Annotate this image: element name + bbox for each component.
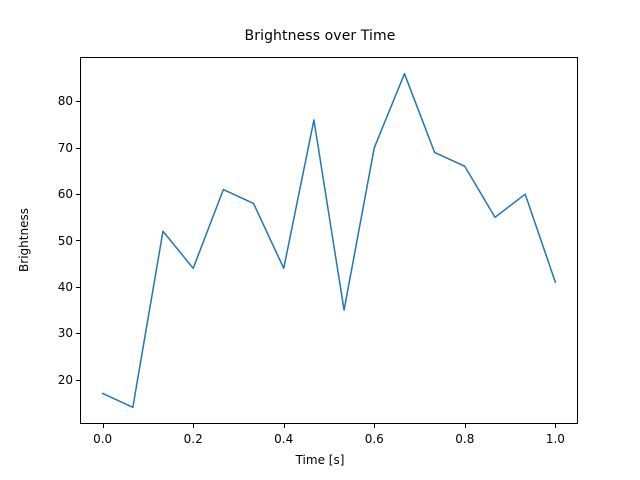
x-tick-mark	[374, 424, 375, 428]
x-tick-mark	[103, 424, 104, 428]
y-tick-label: 30	[40, 326, 73, 340]
y-tick-label: 20	[40, 373, 73, 387]
y-tick-label: 40	[40, 280, 73, 294]
x-tick-label: 0.0	[93, 432, 112, 446]
x-tick-label: 0.2	[184, 432, 203, 446]
brightness-series-line	[103, 74, 556, 408]
chart-title: Brightness over Time	[0, 28, 640, 44]
line-plot-area	[80, 57, 578, 424]
x-tick-label: 0.6	[365, 432, 384, 446]
x-tick-mark	[193, 424, 194, 428]
x-tick-mark	[555, 424, 556, 428]
y-tick-label: 50	[40, 234, 73, 248]
x-axis-label: Time [s]	[0, 453, 640, 467]
chart-figure: Brightness over Time 20304050607080 0.00…	[0, 0, 640, 480]
x-tick-mark	[465, 424, 466, 428]
x-tick-mark	[284, 424, 285, 428]
y-tick-label: 80	[40, 94, 73, 108]
x-tick-label: 0.4	[274, 432, 293, 446]
y-axis-label: Brightness	[17, 208, 31, 272]
y-tick-label: 60	[40, 187, 73, 201]
y-tick-label: 70	[40, 141, 73, 155]
x-tick-label: 0.8	[455, 432, 474, 446]
x-tick-label: 1.0	[546, 432, 565, 446]
